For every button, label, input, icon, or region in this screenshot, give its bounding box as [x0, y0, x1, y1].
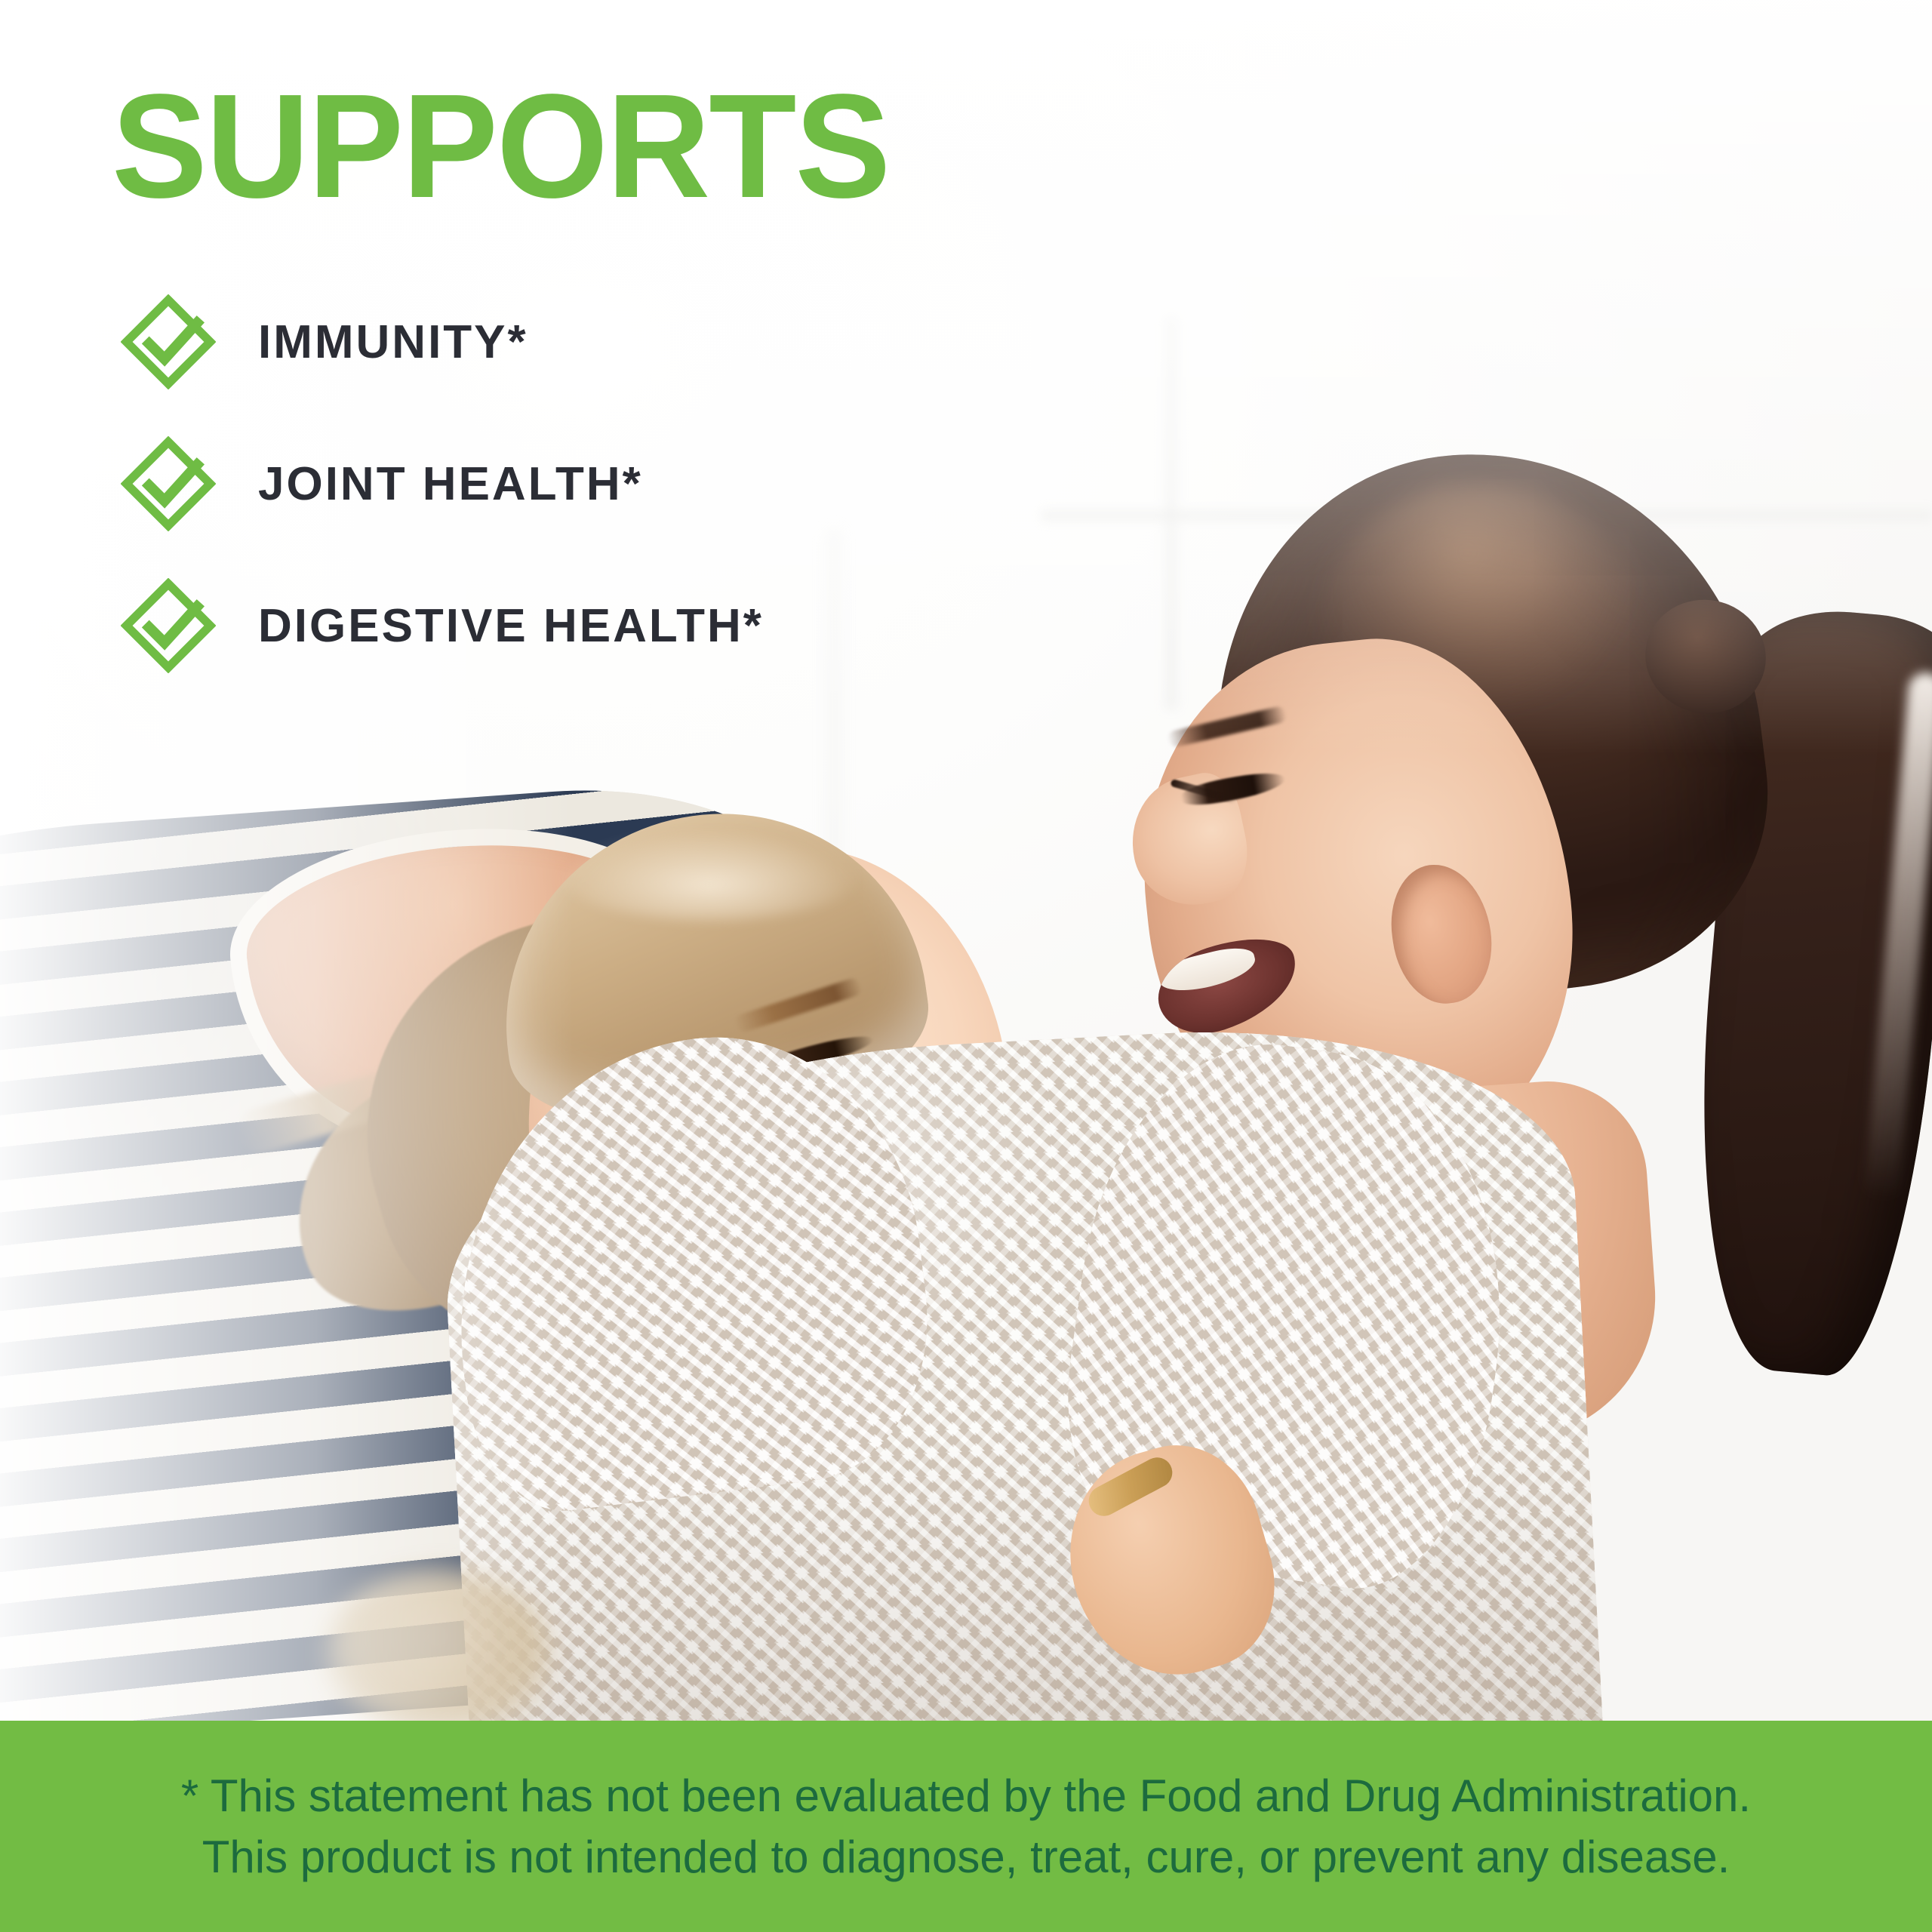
benefit-label: IMMUNITY* [258, 315, 528, 369]
disclaimer-bar: * This statement has not been evaluated … [0, 1721, 1932, 1932]
benefit-list: IMMUNITY* JOINT HEALTH* [121, 294, 764, 673]
check-diamond-icon [121, 436, 216, 531]
check-diamond-icon [121, 578, 216, 673]
page-title: SUPPORTS [112, 72, 889, 220]
benefit-item-digestive-health: DIGESTIVE HEALTH* [121, 578, 764, 673]
disclaimer-line-2: This product is not intended to diagnose… [202, 1829, 1730, 1884]
check-diamond-icon [121, 294, 216, 389]
disclaimer-line-1: * This statement has not been evaluated … [181, 1768, 1751, 1823]
benefit-item-joint-health: JOINT HEALTH* [121, 436, 764, 531]
promo-panel: SUPPORTS IMMUNITY* JOIN [0, 0, 1932, 1932]
benefit-item-immunity: IMMUNITY* [121, 294, 764, 389]
content-overlay: SUPPORTS IMMUNITY* JOIN [0, 0, 1932, 1932]
benefit-label: JOINT HEALTH* [258, 457, 643, 511]
benefit-label: DIGESTIVE HEALTH* [258, 599, 764, 653]
